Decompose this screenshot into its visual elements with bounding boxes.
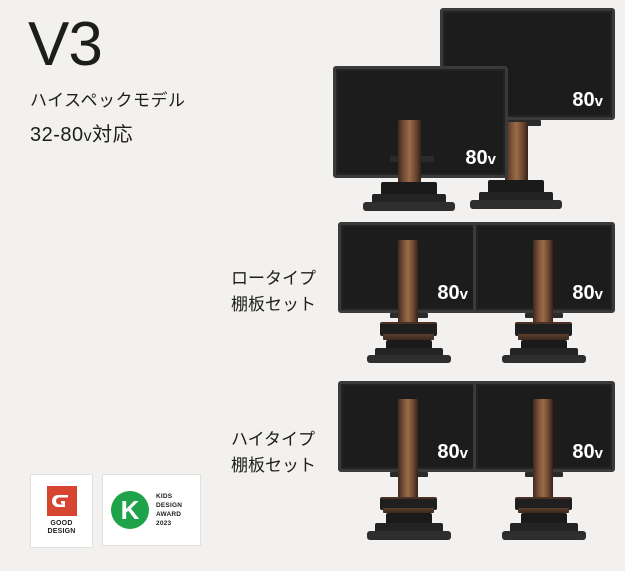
size-range-unit: v — [84, 128, 93, 145]
wood-pole — [398, 240, 418, 325]
product-size-range: 32-80v対応 — [30, 118, 133, 147]
product-subtitle-spec: ハイスペックモデル — [30, 86, 185, 111]
kids-design-award-badge: K KIDS DESIGN AWARD 2023 — [102, 474, 201, 546]
base-plate — [367, 531, 451, 540]
base-plate — [470, 200, 562, 209]
row-label-low-type: ロータイプ 棚板セット — [231, 266, 316, 318]
wood-pole — [533, 240, 553, 325]
size-range-value: 32-80 — [30, 124, 84, 146]
kids-design-label: KIDS DESIGN AWARD 2023 — [156, 492, 182, 528]
good-design-award-badge: GOODDESIGN — [30, 474, 93, 548]
good-design-icon — [47, 486, 77, 516]
base-plate — [367, 355, 451, 363]
base-plate — [363, 202, 455, 211]
award-badges: GOODDESIGN K KIDS DESIGN AWARD 2023 — [30, 474, 201, 548]
screen-size-badge: 80v — [572, 441, 603, 464]
base-plate — [502, 531, 586, 540]
size-range-suffix: 対応 — [92, 124, 133, 146]
page-title: V3 — [28, 14, 102, 76]
base-plate — [502, 355, 586, 363]
wood-pole — [505, 122, 528, 184]
screen-size-badge: 80v — [437, 441, 468, 464]
wood-pole — [398, 120, 421, 186]
screen-size-badge: 80v — [572, 89, 603, 112]
row-label-high-type: ハイタイプ 棚板セット — [231, 427, 316, 479]
wood-pole — [398, 399, 418, 509]
screen-size-badge: 80v — [437, 282, 468, 305]
product-image: V3 ハイスペックモデル 32-80v対応 ロータイプ 棚板セット ハイタイプ … — [0, 0, 625, 571]
wood-pole — [533, 399, 553, 509]
kids-design-icon: K — [111, 491, 149, 529]
screen-size-badge: 80v — [572, 282, 603, 305]
screen-size-badge: 80v — [465, 147, 496, 170]
good-design-label: GOODDESIGN — [47, 520, 75, 536]
